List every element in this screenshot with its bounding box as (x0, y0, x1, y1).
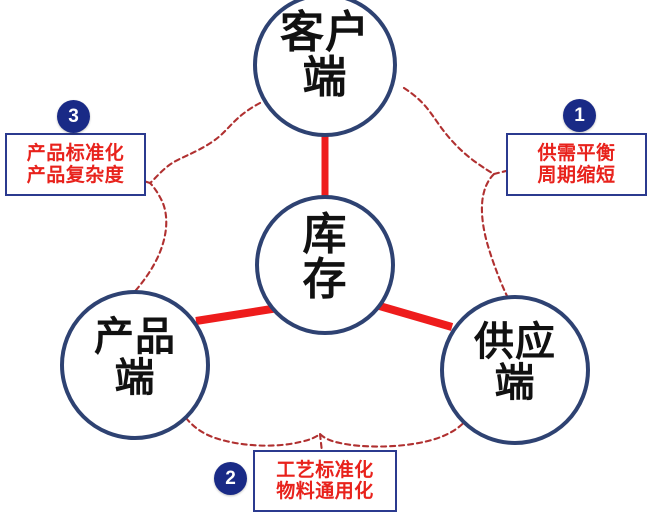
node-circle-inventory[interactable] (257, 197, 393, 333)
callout-3-line-2: 产品复杂度 (27, 165, 125, 186)
callout-2-line-1: 工艺标准化 (276, 460, 374, 481)
callout-badge-3[interactable]: 3 (57, 100, 90, 133)
brace-bottom (186, 418, 468, 447)
diagram-artwork (0, 0, 652, 521)
diagram-canvas: 客户 端 库 存 产品 端 供应 端 供需平衡 周期缩短 1 工艺标准化 物料通… (0, 0, 652, 521)
brace-right (404, 88, 508, 298)
callout-1-line-1: 供需平衡 (537, 143, 615, 164)
node-circle-product[interactable] (62, 292, 208, 438)
node-circle-supply[interactable] (442, 297, 588, 443)
callout-badge-1[interactable]: 1 (563, 99, 596, 132)
callout-box-1[interactable]: 供需平衡 周期缩短 (506, 133, 647, 196)
brace-left (130, 103, 260, 297)
callout-box-2[interactable]: 工艺标准化 物料通用化 (253, 450, 397, 512)
callout-2-line-2: 物料通用化 (276, 481, 374, 502)
node-circle-customer[interactable] (255, 0, 395, 135)
callout-badge-2[interactable]: 2 (214, 462, 247, 495)
callout-box-3[interactable]: 产品标准化 产品复杂度 (5, 133, 146, 196)
node-circle-group (62, 0, 588, 443)
connector-inventory-supply (376, 305, 452, 327)
callout-3-line-1: 产品标准化 (27, 143, 125, 164)
connector-inventory-product (196, 308, 278, 321)
callout-1-line-2: 周期缩短 (537, 165, 615, 186)
